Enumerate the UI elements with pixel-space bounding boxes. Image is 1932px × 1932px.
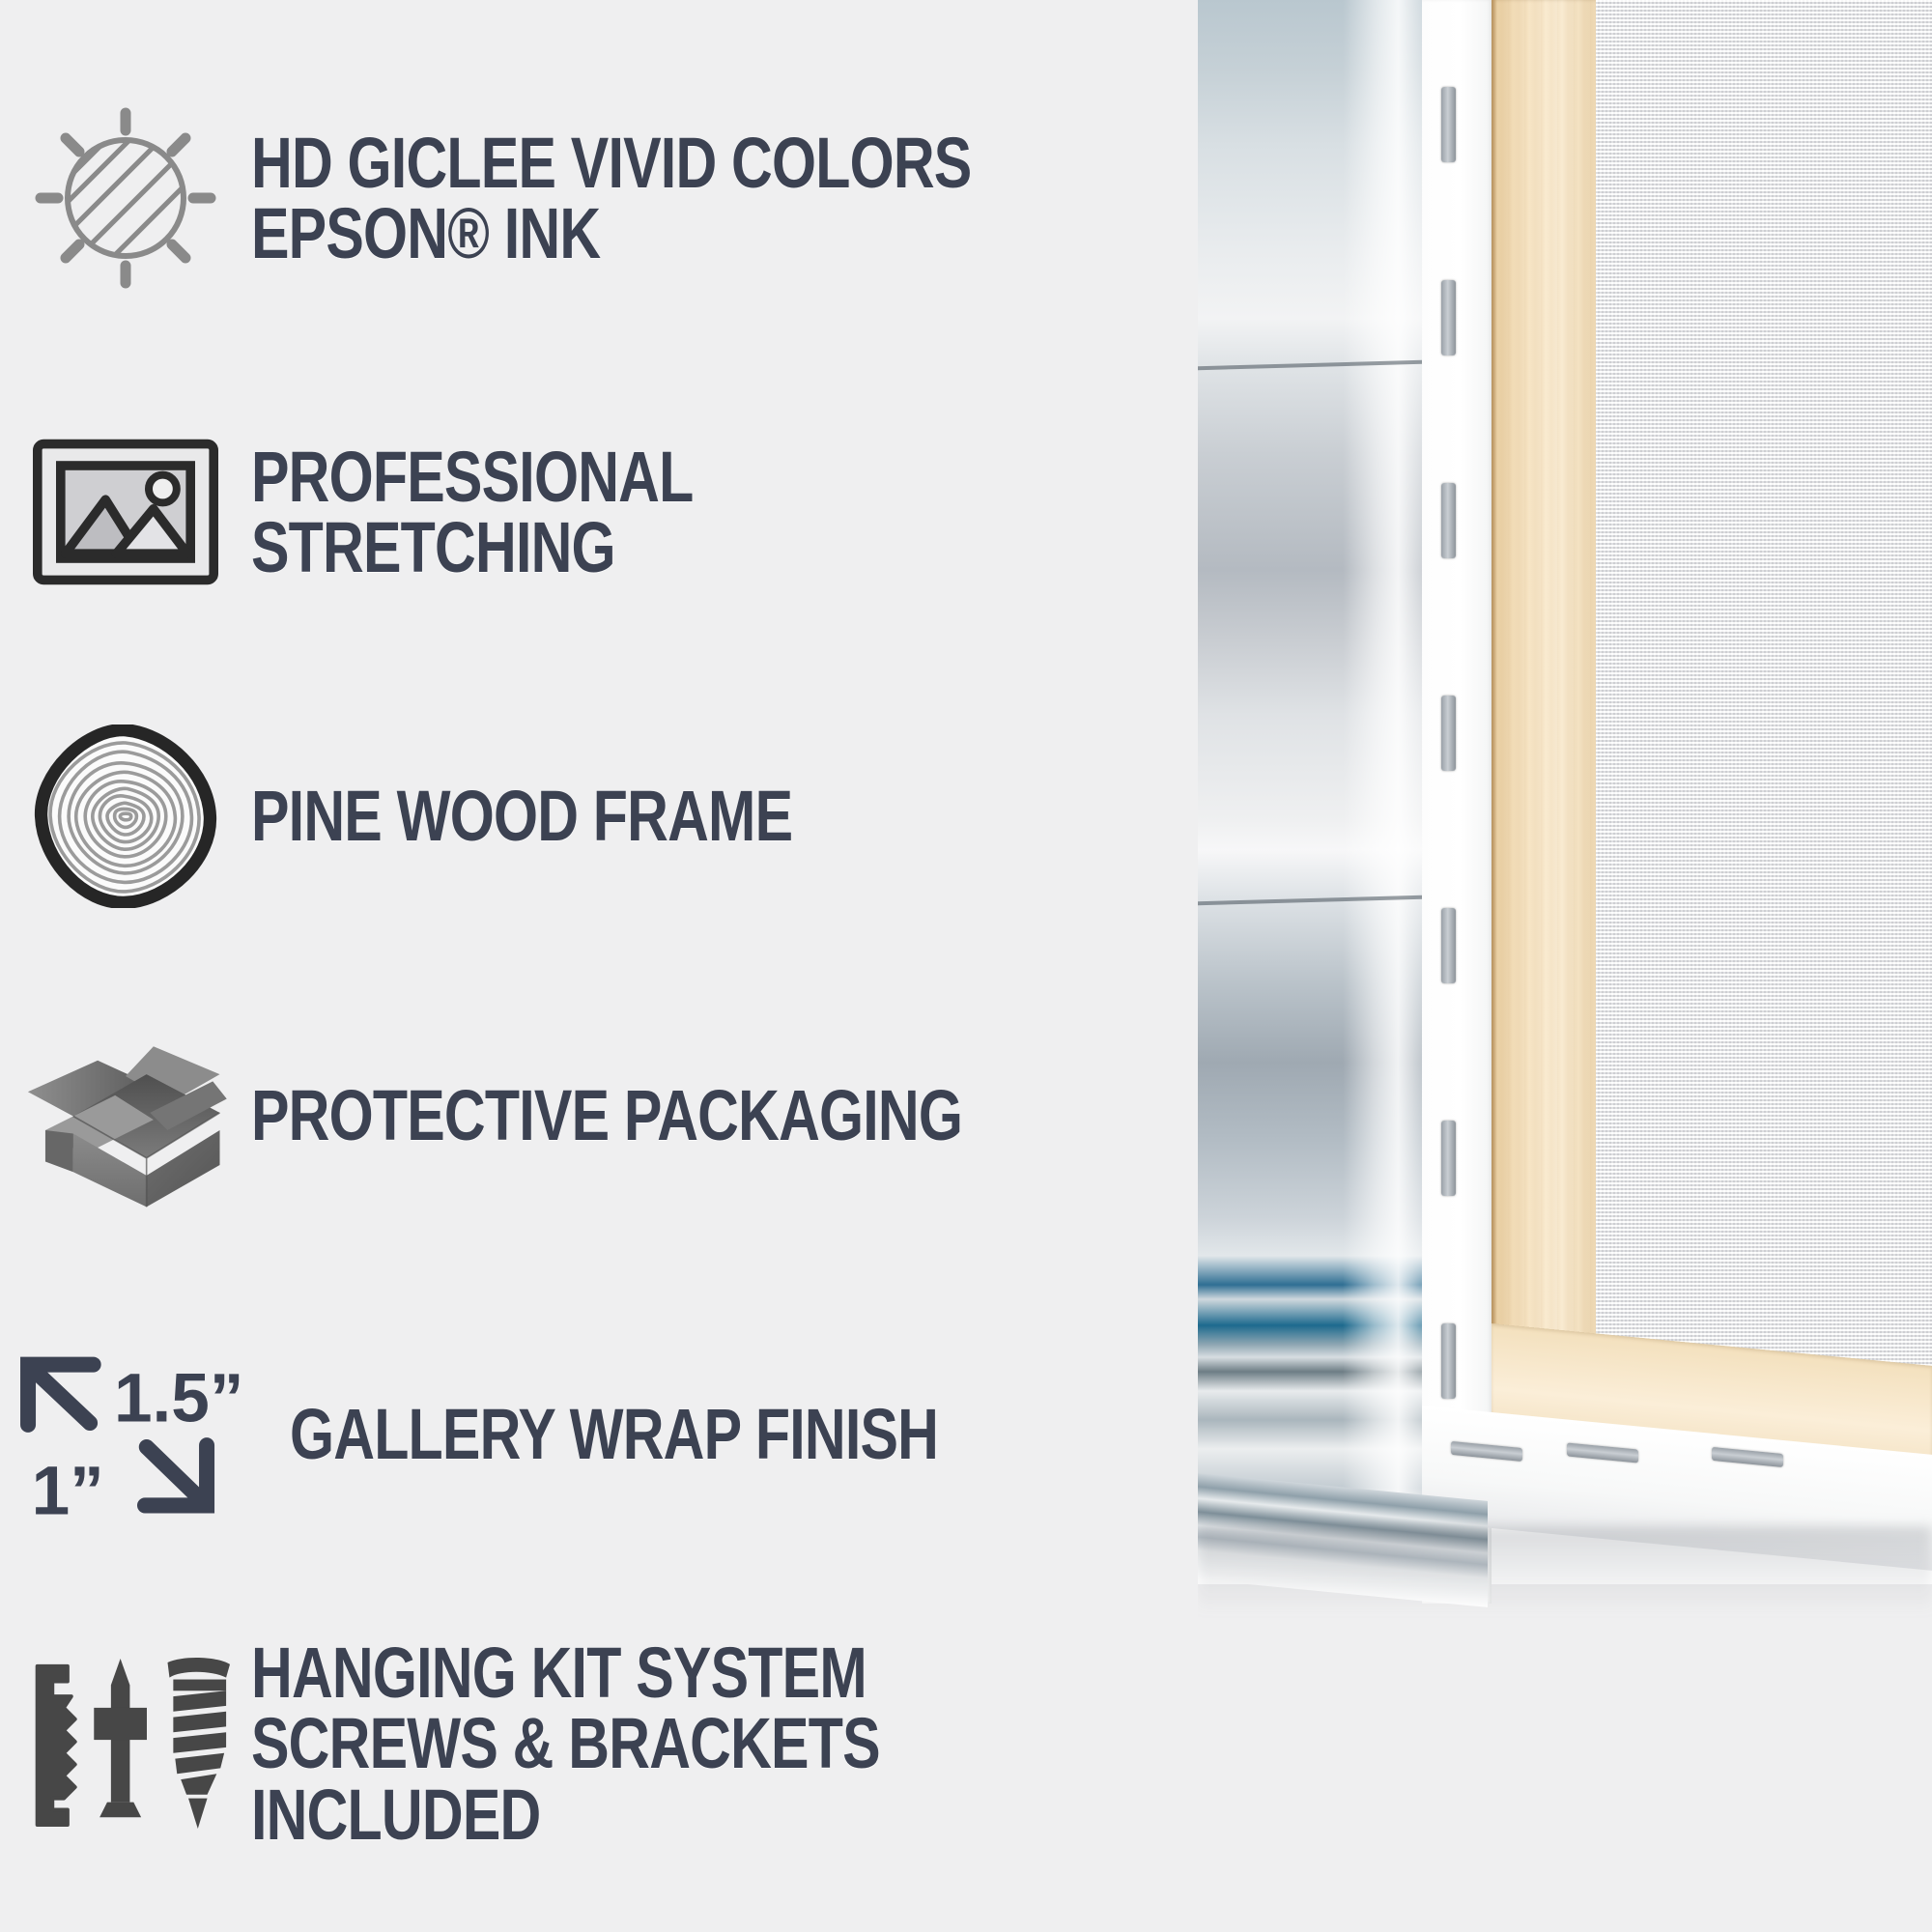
feature-list: HD GICLEE VIVID COLORS EPSON® INK PROFES…	[0, 0, 1217, 1932]
staple	[1441, 696, 1456, 771]
staple	[1441, 87, 1456, 162]
feature-label-packaging: PROTECTIVE PACKAGING	[251, 1080, 962, 1151]
product-drop-shadow	[1198, 1526, 1932, 1613]
measurement-width-label: 1”	[32, 1453, 104, 1524]
feature-label-giclee: HD GICLEE VIVID COLORS EPSON® INK	[251, 128, 972, 270]
staple	[1712, 1447, 1783, 1467]
screw-shape	[167, 1658, 230, 1829]
staple	[1451, 1441, 1522, 1462]
feature-label-hangingkit: HANGING KIT SYSTEM SCREWS & BRACKETS INC…	[251, 1637, 1024, 1850]
pine-stretcher-bar	[1492, 0, 1596, 1449]
staple	[1441, 483, 1456, 558]
sun-icon	[0, 101, 251, 295]
feature-label-stretching: PROFESSIONAL STRETCHING	[251, 441, 1024, 583]
feature-row-giclee: HD GICLEE VIVID COLORS EPSON® INK	[0, 82, 1217, 314]
bracket-shape	[37, 1666, 74, 1825]
feature-row-pinewood: PINE WOOD FRAME	[0, 715, 1217, 918]
open-box-icon	[0, 1022, 251, 1210]
feature-row-stretching: PROFESSIONAL STRETCHING	[0, 415, 1217, 609]
canvas-back-wrap	[1422, 0, 1492, 1604]
wrap-edge-corner-fold	[1343, 0, 1422, 1570]
feature-label-gallerywrap: GALLERY WRAP FINISH	[290, 1399, 938, 1469]
feature-row-gallerywrap: 1.5” 1” GALLERY WRAP FINISH	[0, 1333, 1217, 1536]
infographic-page: HD GICLEE VIVID COLORS EPSON® INK PROFES…	[0, 0, 1932, 1932]
canvas-back-corner-photo	[1198, 0, 1932, 1932]
staple	[1567, 1442, 1638, 1463]
staple	[1441, 1323, 1456, 1399]
measurement-depth-label: 1.5”	[114, 1360, 243, 1436]
feature-row-hangingkit: HANGING KIT SYSTEM SCREWS & BRACKETS INC…	[0, 1623, 1217, 1864]
tree-rings-icon	[0, 724, 251, 908]
pine-stretcher-bar-edge	[1492, 0, 1497, 1449]
dimension-arrows-icon: 1.5” 1”	[0, 1346, 290, 1524]
feature-row-packaging: PROTECTIVE PACKAGING	[0, 1014, 1217, 1217]
hardware-screws-icon	[0, 1647, 251, 1840]
staple	[1441, 908, 1456, 983]
picture-frame-icon	[0, 435, 251, 589]
staple	[1441, 280, 1456, 355]
feature-label-pinewood: PINE WOOD FRAME	[251, 781, 792, 851]
canvas-backing	[1596, 0, 1932, 1401]
nail-shape	[94, 1659, 147, 1817]
staple	[1441, 1121, 1456, 1196]
